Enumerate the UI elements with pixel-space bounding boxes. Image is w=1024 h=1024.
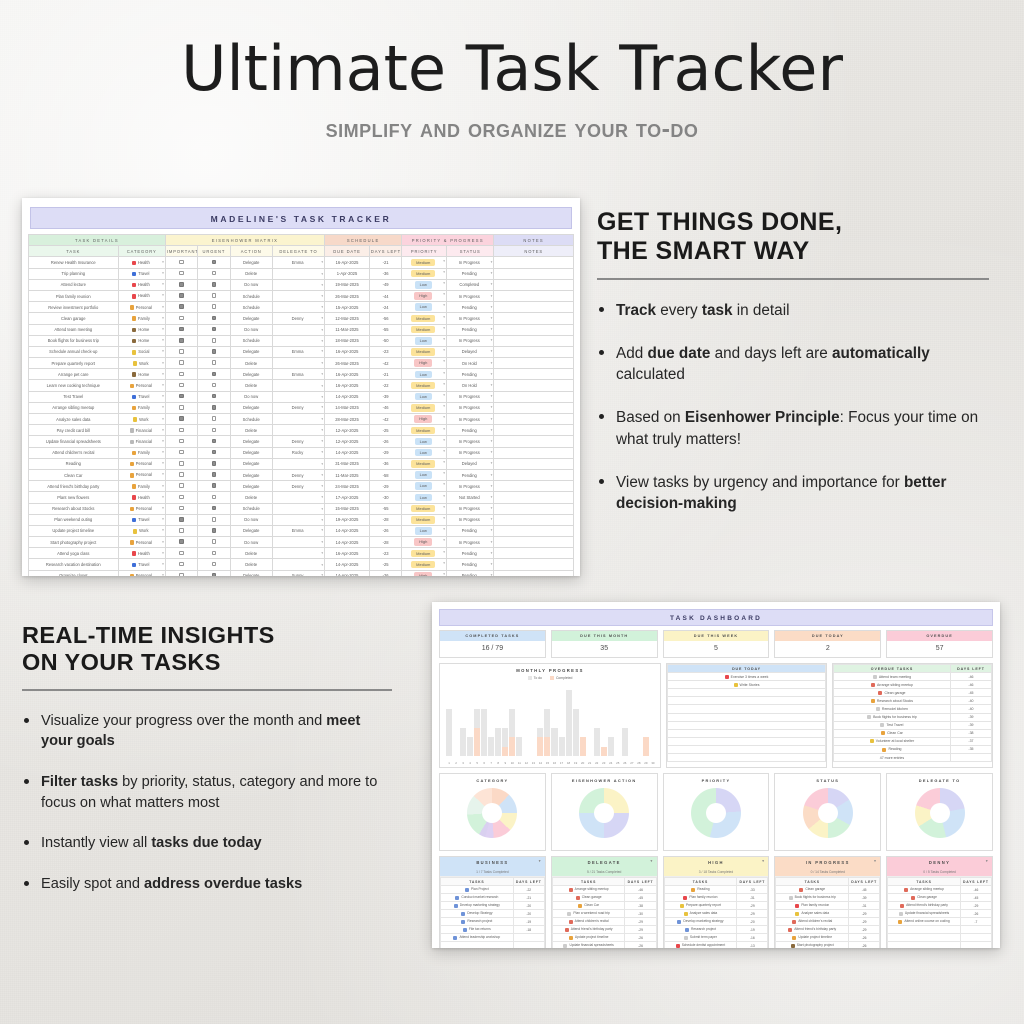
table-row[interactable]: Attend team meeting-46 <box>834 673 992 681</box>
chevron-down-icon[interactable]: ▾ <box>491 484 493 488</box>
chevron-down-icon[interactable]: ▾ <box>321 405 323 409</box>
important-checkbox[interactable] <box>179 316 184 321</box>
table-row[interactable]: Attend friend's birthday party-29 <box>776 926 880 934</box>
chevron-down-icon[interactable]: ▾ <box>491 327 493 331</box>
chevron-down-icon[interactable]: ▾ <box>491 517 493 521</box>
cell-due-date[interactable]: 19-Mar-2025 <box>325 279 370 290</box>
cell-category[interactable]: Health▾ <box>118 257 165 268</box>
table-row[interactable]: Arrange sibling meetup-46 <box>834 681 992 689</box>
cell-due-date[interactable]: 15-Mar-2025 <box>325 503 370 514</box>
cell-important[interactable] <box>165 257 197 268</box>
table-row[interactable]: Arrange sibling meetup-46 <box>552 886 656 894</box>
chevron-down-icon[interactable]: ▾ <box>491 428 493 432</box>
filter-panel-title[interactable]: IN PROGRESS▾ <box>775 857 880 868</box>
table-row[interactable]: Develop marketing strategy-20 <box>664 918 768 926</box>
important-checkbox[interactable] <box>179 472 184 477</box>
cell-priority[interactable]: Medium▾ <box>402 425 447 436</box>
cell-due-date[interactable]: 12-Apr-2025 <box>325 425 370 436</box>
cell-status[interactable]: In Progress▾ <box>447 414 494 425</box>
cell-status[interactable]: In Progress▾ <box>447 503 494 514</box>
cell-due-date[interactable]: 16-Apr-2025 <box>325 346 370 357</box>
cell-category[interactable]: Travel▾ <box>118 514 165 525</box>
table-row[interactable]: Volunteer at local shelter-37 <box>834 737 992 745</box>
chevron-down-icon[interactable]: ▾ <box>491 450 493 454</box>
chevron-down-icon[interactable]: ▾ <box>162 372 164 376</box>
table-row[interactable]: Clean garage-45 <box>834 689 992 697</box>
table-row[interactable]: Book flights for business trip-39 <box>834 713 992 721</box>
chevron-down-icon[interactable]: ▾ <box>491 461 493 465</box>
cell-delegate-to[interactable]: ▾ <box>272 458 324 469</box>
chevron-down-icon[interactable]: ▾ <box>162 495 164 499</box>
cell-priority[interactable]: Low▾ <box>402 469 447 480</box>
cell-important[interactable] <box>165 548 197 559</box>
chevron-down-icon[interactable]: ▾ <box>443 337 445 341</box>
cell-status[interactable]: Delayed▾ <box>447 458 494 469</box>
cell-important[interactable] <box>165 369 197 380</box>
cell-important[interactable] <box>165 414 197 425</box>
table-row[interactable]: Clean garage-45 <box>776 886 880 894</box>
chevron-down-icon[interactable]: ▾ <box>443 527 445 531</box>
table-row[interactable]: Plan family reunion-31 <box>776 902 880 910</box>
urgent-checkbox[interactable] <box>212 461 217 466</box>
table-row[interactable]: File tax returns-18 <box>441 926 545 934</box>
chevron-down-icon[interactable]: ▾ <box>491 573 493 576</box>
chevron-down-icon[interactable]: ▾ <box>162 338 164 342</box>
cell-urgent[interactable] <box>198 537 230 548</box>
cell-status[interactable]: In Progress▾ <box>447 514 494 525</box>
cell-notes[interactable] <box>494 414 574 425</box>
chevron-down-icon[interactable]: ▾ <box>491 383 493 387</box>
cell-priority[interactable]: Medium▾ <box>402 380 447 391</box>
cell-category[interactable]: Personal▾ <box>118 380 165 391</box>
cell-notes[interactable] <box>494 514 574 525</box>
cell-status[interactable]: Pending▾ <box>447 570 494 576</box>
table-row[interactable]: Attend friend's birthday party-29 <box>888 902 992 910</box>
chevron-down-icon[interactable]: ▾ <box>491 361 493 365</box>
filter-panel-business[interactable]: BUSINESS▾1 / 7 Tasks CompletedTASKSDAYS … <box>439 856 546 948</box>
important-checkbox[interactable] <box>179 551 184 556</box>
cell-notes[interactable] <box>494 257 574 268</box>
cell-status[interactable]: In Progress▾ <box>447 537 494 548</box>
chevron-down-icon[interactable]: ▾ <box>321 518 323 522</box>
cell-priority[interactable]: Medium▾ <box>402 559 447 570</box>
chevron-down-icon[interactable]: ▾ <box>162 394 164 398</box>
chevron-down-icon[interactable]: ▾ <box>491 506 493 510</box>
cell-due-date[interactable]: 28-Mar-2025 <box>325 414 370 425</box>
chevron-down-icon[interactable]: ▾ <box>443 494 445 498</box>
cell-priority[interactable]: High▾ <box>402 290 447 301</box>
chevron-down-icon[interactable]: ▾ <box>443 471 445 475</box>
cell-priority[interactable]: Medium▾ <box>402 324 447 335</box>
cell-notes[interactable] <box>494 537 574 548</box>
cell-due-date[interactable]: 19-Apr-2025 <box>325 514 370 525</box>
table-row[interactable]: Schedule dentist appointment-13 <box>664 942 768 949</box>
table-row[interactable]: Trip planningTravel▾Delete▾1-Apr-2025-36… <box>29 268 574 279</box>
cell-important[interactable] <box>165 570 197 576</box>
chevron-down-icon[interactable]: ▾ <box>443 326 445 330</box>
chevron-down-icon[interactable]: ▾ <box>162 305 164 309</box>
urgent-checkbox[interactable] <box>212 495 217 500</box>
chevron-down-icon[interactable]: ▾ <box>162 506 164 510</box>
table-row[interactable]: Attend friend's birthday party-29 <box>552 926 656 934</box>
table-row[interactable]: Update financial spreadsheets-26 <box>888 910 992 918</box>
chevron-down-icon[interactable]: ▾ <box>321 283 323 287</box>
cell-category[interactable]: Financial▾ <box>118 436 165 447</box>
cell-due-date[interactable]: 15-Apr-2025 <box>325 302 370 313</box>
urgent-checkbox[interactable] <box>212 327 217 332</box>
cell-urgent[interactable] <box>198 559 230 570</box>
important-checkbox[interactable] <box>179 282 184 287</box>
cell-status[interactable]: In Progress▾ <box>447 313 494 324</box>
chevron-down-icon[interactable]: ▾ <box>443 561 445 565</box>
table-row[interactable]: Attend team meetingHome▾Do now▾11-Mar-20… <box>29 324 574 335</box>
cell-notes[interactable] <box>494 335 574 346</box>
urgent-checkbox[interactable] <box>212 271 217 276</box>
cell-priority[interactable]: High▾ <box>402 358 447 369</box>
table-row[interactable]: Analyze sales dataWork▾Schedule▾28-Mar-2… <box>29 414 574 425</box>
cell-category[interactable]: Travel▾ <box>118 391 165 402</box>
cell-urgent[interactable] <box>198 335 230 346</box>
chevron-down-icon[interactable]: ▾ <box>491 349 493 353</box>
cell-priority[interactable]: High▾ <box>402 537 447 548</box>
chevron-down-icon[interactable]: ▾ <box>321 361 323 365</box>
cell-due-date[interactable]: 12-Apr-2025 <box>325 436 370 447</box>
chevron-down-icon[interactable]: ▾ <box>491 271 493 275</box>
chevron-down-icon[interactable]: ▾ <box>491 372 493 376</box>
chevron-down-icon[interactable]: ▾ <box>162 439 164 443</box>
chevron-down-icon[interactable]: ▾ <box>321 540 323 544</box>
important-checkbox[interactable] <box>179 293 184 298</box>
table-row[interactable]: Conduct market research-21 <box>441 894 545 902</box>
cell-priority[interactable]: Low▾ <box>402 447 447 458</box>
cell-category[interactable]: Travel▾ <box>118 559 165 570</box>
table-row[interactable]: Start photography project-26 <box>776 942 880 949</box>
urgent-checkbox[interactable] <box>212 260 217 265</box>
cell-status[interactable]: In Progress▾ <box>447 290 494 301</box>
cell-important[interactable] <box>165 290 197 301</box>
chevron-down-icon[interactable]: ▾ <box>321 294 323 298</box>
cell-category[interactable]: Personal▾ <box>118 570 165 576</box>
cell-category[interactable]: Travel▾ <box>118 268 165 279</box>
cell-delegate-to[interactable]: ▾ <box>272 335 324 346</box>
cell-priority[interactable]: Low▾ <box>402 302 447 313</box>
cell-important[interactable] <box>165 514 197 525</box>
table-row[interactable]: 47 more entries <box>834 754 992 762</box>
chevron-down-icon[interactable]: ▾ <box>162 472 164 476</box>
chevron-down-icon[interactable]: ▾ <box>443 382 445 386</box>
filter-panel-title[interactable]: BUSINESS▾ <box>440 857 545 868</box>
cell-important[interactable] <box>165 358 197 369</box>
chevron-down-icon[interactable]: ▾ <box>443 404 445 408</box>
cell-status[interactable]: Pending▾ <box>447 525 494 536</box>
cell-delegate-to[interactable]: ▾ <box>272 324 324 335</box>
chevron-down-icon[interactable]: ▾ <box>162 562 164 566</box>
cell-due-date[interactable]: 14-Apr-2025 <box>325 391 370 402</box>
cell-category[interactable]: Personal▾ <box>118 469 165 480</box>
table-row[interactable]: Prepare quarterly report-29 <box>664 902 768 910</box>
table-row[interactable]: Schedule annual check-upSocial▾DelegateE… <box>29 346 574 357</box>
filter-panel-title[interactable]: DENNY▾ <box>887 857 992 868</box>
cell-notes[interactable] <box>494 492 574 503</box>
chevron-down-icon[interactable]: ▾ <box>539 859 542 863</box>
important-checkbox[interactable] <box>179 394 184 399</box>
table-row[interactable]: Research project-19 <box>664 926 768 934</box>
urgent-checkbox[interactable] <box>212 416 217 421</box>
cell-status[interactable]: In Progress▾ <box>447 335 494 346</box>
cell-notes[interactable] <box>494 324 574 335</box>
chevron-down-icon[interactable]: ▾ <box>443 538 445 542</box>
chevron-down-icon[interactable]: ▾ <box>443 359 445 363</box>
chevron-down-icon[interactable]: ▾ <box>491 316 493 320</box>
cell-notes[interactable] <box>494 369 574 380</box>
chevron-down-icon[interactable]: ▾ <box>162 271 164 275</box>
chevron-down-icon[interactable]: ▾ <box>491 294 493 298</box>
chevron-down-icon[interactable]: ▾ <box>491 282 493 286</box>
cell-priority[interactable]: Low▾ <box>402 525 447 536</box>
cell-priority[interactable]: Medium▾ <box>402 503 447 514</box>
important-checkbox[interactable] <box>179 573 184 576</box>
cell-important[interactable] <box>165 458 197 469</box>
cell-urgent[interactable] <box>198 414 230 425</box>
chevron-down-icon[interactable]: ▾ <box>321 272 323 276</box>
cell-important[interactable] <box>165 302 197 313</box>
cell-delegate-to[interactable]: ▾ <box>272 503 324 514</box>
cell-urgent[interactable] <box>198 290 230 301</box>
urgent-checkbox[interactable] <box>212 405 217 410</box>
cell-due-date[interactable]: 14-Apr-2025 <box>325 559 370 570</box>
cell-notes[interactable] <box>494 279 574 290</box>
cell-notes[interactable] <box>494 358 574 369</box>
table-row[interactable]: Start photography projectPersonal▾Do now… <box>29 537 574 548</box>
chevron-down-icon[interactable]: ▾ <box>443 415 445 419</box>
cell-urgent[interactable] <box>198 391 230 402</box>
chevron-down-icon[interactable]: ▾ <box>321 450 323 454</box>
cell-important[interactable] <box>165 525 197 536</box>
chevron-down-icon[interactable]: ▾ <box>491 528 493 532</box>
chevron-down-icon[interactable]: ▾ <box>443 438 445 442</box>
cell-status[interactable]: Pending▾ <box>447 268 494 279</box>
chevron-down-icon[interactable]: ▾ <box>321 260 323 264</box>
table-row[interactable]: Reading-35 <box>834 745 992 753</box>
cell-delegate-to[interactable]: Sunny▾ <box>272 570 324 576</box>
table-row[interactable]: Clean Car-38 <box>552 902 656 910</box>
cell-important[interactable] <box>165 279 197 290</box>
cell-delegate-to[interactable]: Denny▾ <box>272 469 324 480</box>
cell-delegate-to[interactable]: ▾ <box>272 380 324 391</box>
cell-important[interactable] <box>165 481 197 492</box>
cell-category[interactable]: Work▾ <box>118 358 165 369</box>
table-row[interactable]: Update project timeline-26 <box>776 934 880 942</box>
cell-status[interactable]: In Progress▾ <box>447 402 494 413</box>
chevron-down-icon[interactable]: ▾ <box>162 484 164 488</box>
cell-category[interactable]: Personal▾ <box>118 503 165 514</box>
table-row[interactable]: Update financial spreadsheets-26 <box>552 942 656 949</box>
urgent-checkbox[interactable] <box>212 517 217 522</box>
chevron-down-icon[interactable]: ▾ <box>321 395 323 399</box>
chevron-down-icon[interactable]: ▾ <box>491 540 493 544</box>
important-checkbox[interactable] <box>179 483 184 488</box>
table-row[interactable]: Plan family reunion-31 <box>664 894 768 902</box>
urgent-checkbox[interactable] <box>212 562 217 567</box>
cell-due-date[interactable]: 14-Apr-2025 <box>325 447 370 458</box>
cell-important[interactable] <box>165 402 197 413</box>
chevron-down-icon[interactable]: ▾ <box>321 428 323 432</box>
cell-delegate-to[interactable]: Emma▾ <box>272 525 324 536</box>
cell-priority[interactable]: Medium▾ <box>402 548 447 559</box>
chevron-down-icon[interactable]: ▾ <box>162 450 164 454</box>
cell-urgent[interactable] <box>198 369 230 380</box>
cell-priority[interactable]: High▾ <box>402 570 447 576</box>
cell-notes[interactable] <box>494 391 574 402</box>
chevron-down-icon[interactable]: ▾ <box>443 371 445 375</box>
cell-important[interactable] <box>165 324 197 335</box>
chevron-down-icon[interactable]: ▾ <box>321 573 323 576</box>
cell-category[interactable]: Health▾ <box>118 492 165 503</box>
cell-category[interactable]: Family▾ <box>118 402 165 413</box>
cell-delegate-to[interactable]: ▾ <box>272 492 324 503</box>
table-row[interactable]: Update project timeline-26 <box>552 934 656 942</box>
urgent-checkbox[interactable] <box>212 282 217 287</box>
cell-notes[interactable] <box>494 346 574 357</box>
cell-due-date[interactable]: 26-Mar-2025 <box>325 358 370 369</box>
cell-status[interactable]: Pending▾ <box>447 302 494 313</box>
cell-delegate-to[interactable]: Emma▾ <box>272 346 324 357</box>
cell-category[interactable]: Family▾ <box>118 447 165 458</box>
chevron-down-icon[interactable]: ▾ <box>162 573 164 576</box>
urgent-checkbox[interactable] <box>212 439 217 444</box>
cell-important[interactable] <box>165 346 197 357</box>
chevron-down-icon[interactable]: ▾ <box>162 461 164 465</box>
chevron-down-icon[interactable]: ▾ <box>443 482 445 486</box>
chevron-down-icon[interactable]: ▾ <box>491 338 493 342</box>
important-checkbox[interactable] <box>179 428 184 433</box>
chevron-down-icon[interactable]: ▾ <box>162 361 164 365</box>
cell-priority[interactable]: Low▾ <box>402 335 447 346</box>
chevron-down-icon[interactable]: ▾ <box>443 292 445 296</box>
cell-category[interactable]: Health▾ <box>118 279 165 290</box>
urgent-checkbox[interactable] <box>212 573 217 576</box>
table-row[interactable]: Clean garage-45 <box>552 894 656 902</box>
cell-delegate-to[interactable]: Emma▾ <box>272 369 324 380</box>
important-checkbox[interactable] <box>179 372 184 377</box>
cell-delegate-to[interactable]: ▾ <box>272 425 324 436</box>
chevron-down-icon[interactable]: ▾ <box>321 349 323 353</box>
cell-category[interactable]: Work▾ <box>118 414 165 425</box>
urgent-checkbox[interactable] <box>212 483 217 488</box>
cell-delegate-to[interactable]: ▾ <box>272 414 324 425</box>
table-row[interactable]: Update project timelineWork▾DelegateEmma… <box>29 525 574 536</box>
cell-priority[interactable]: Medium▾ <box>402 514 447 525</box>
cell-due-date[interactable]: 18-Mar-2025 <box>325 335 370 346</box>
chevron-down-icon[interactable]: ▾ <box>986 859 989 863</box>
cell-status[interactable]: In Progress▾ <box>447 257 494 268</box>
cell-urgent[interactable] <box>198 503 230 514</box>
cell-notes[interactable] <box>494 380 574 391</box>
table-row[interactable]: Reading-33 <box>664 886 768 894</box>
chevron-down-icon[interactable]: ▾ <box>321 484 323 488</box>
table-row[interactable]: Review investment portfolioPersonal▾Sche… <box>29 302 574 313</box>
cell-delegate-to[interactable]: Rocky▾ <box>272 447 324 458</box>
urgent-checkbox[interactable] <box>212 316 217 321</box>
cell-urgent[interactable] <box>198 402 230 413</box>
urgent-checkbox[interactable] <box>212 506 217 511</box>
cell-status[interactable]: Pending▾ <box>447 469 494 480</box>
cell-priority[interactable]: Medium▾ <box>402 402 447 413</box>
urgent-checkbox[interactable] <box>212 372 217 377</box>
cell-status[interactable]: Not Started▾ <box>447 492 494 503</box>
cell-category[interactable]: Family▾ <box>118 481 165 492</box>
table-row[interactable]: Organize closetPersonal▾DelegateSunny▾14… <box>29 570 574 576</box>
urgent-checkbox[interactable] <box>212 450 217 455</box>
chevron-down-icon[interactable]: ▾ <box>491 495 493 499</box>
cell-due-date[interactable]: 16-Apr-2025 <box>325 257 370 268</box>
table-row[interactable]: Clean CarPersonal▾DelegateDenny▾11-Mar-2… <box>29 469 574 480</box>
chevron-down-icon[interactable]: ▾ <box>162 316 164 320</box>
cell-delegate-to[interactable]: Denny▾ <box>272 436 324 447</box>
chevron-down-icon[interactable]: ▾ <box>491 562 493 566</box>
cell-due-date[interactable]: 16-Apr-2025 <box>325 548 370 559</box>
cell-notes[interactable] <box>494 436 574 447</box>
important-checkbox[interactable] <box>179 416 184 421</box>
cell-status[interactable]: In Progress▾ <box>447 391 494 402</box>
important-checkbox[interactable] <box>179 304 184 309</box>
table-row[interactable]: Pay credit card billFinancial▾Delete▾12-… <box>29 425 574 436</box>
cell-urgent[interactable] <box>198 548 230 559</box>
important-checkbox[interactable] <box>179 495 184 500</box>
important-checkbox[interactable] <box>179 271 184 276</box>
table-row[interactable]: Book flights for business tripHome▾Sched… <box>29 335 574 346</box>
important-checkbox[interactable] <box>179 360 184 365</box>
important-checkbox[interactable] <box>179 439 184 444</box>
cell-due-date[interactable]: 26-Mar-2025 <box>325 290 370 301</box>
cell-delegate-to[interactable]: Denny▾ <box>272 481 324 492</box>
cell-delegate-to[interactable]: ▾ <box>272 548 324 559</box>
cell-urgent[interactable] <box>198 346 230 357</box>
table-row[interactable]: Attend lectureHealth▾Do now▾19-Mar-2025-… <box>29 279 574 290</box>
chevron-down-icon[interactable]: ▾ <box>443 550 445 554</box>
table-row[interactable]: Attend children's recitalFamily▾Delegate… <box>29 447 574 458</box>
cell-category[interactable]: Family▾ <box>118 313 165 324</box>
cell-notes[interactable] <box>494 268 574 279</box>
cell-priority[interactable]: Medium▾ <box>402 458 447 469</box>
chevron-down-icon[interactable]: ▾ <box>491 405 493 409</box>
important-checkbox[interactable] <box>179 383 184 388</box>
important-checkbox[interactable] <box>179 506 184 511</box>
cell-status[interactable]: In Progress▾ <box>447 436 494 447</box>
important-checkbox[interactable] <box>179 405 184 410</box>
cell-due-date[interactable]: 11-Mar-2025 <box>325 324 370 335</box>
cell-notes[interactable] <box>494 481 574 492</box>
cell-urgent[interactable] <box>198 514 230 525</box>
table-row[interactable]: Clean Car-38 <box>834 729 992 737</box>
urgent-checkbox[interactable] <box>212 551 217 556</box>
cell-urgent[interactable] <box>198 380 230 391</box>
chevron-down-icon[interactable]: ▾ <box>321 528 323 532</box>
cell-urgent[interactable] <box>198 425 230 436</box>
table-row[interactable]: Attend online course on coding-7 <box>888 918 992 926</box>
cell-category[interactable]: Personal▾ <box>118 302 165 313</box>
list-item[interactable]: Write Stories <box>668 681 826 689</box>
cell-priority[interactable]: Low▾ <box>402 369 447 380</box>
chevron-down-icon[interactable]: ▾ <box>321 339 323 343</box>
table-row[interactable]: Plan a weekend road trip-30 <box>552 910 656 918</box>
cell-urgent[interactable] <box>198 469 230 480</box>
cell-important[interactable] <box>165 492 197 503</box>
chevron-down-icon[interactable]: ▾ <box>162 282 164 286</box>
filter-panel-denny[interactable]: DENNY▾0 / 5 Tasks CompletedTASKSDAYS LEF… <box>886 856 993 948</box>
table-row[interactable]: Remodel kitchen-40 <box>834 705 992 713</box>
chevron-down-icon[interactable]: ▾ <box>321 563 323 567</box>
